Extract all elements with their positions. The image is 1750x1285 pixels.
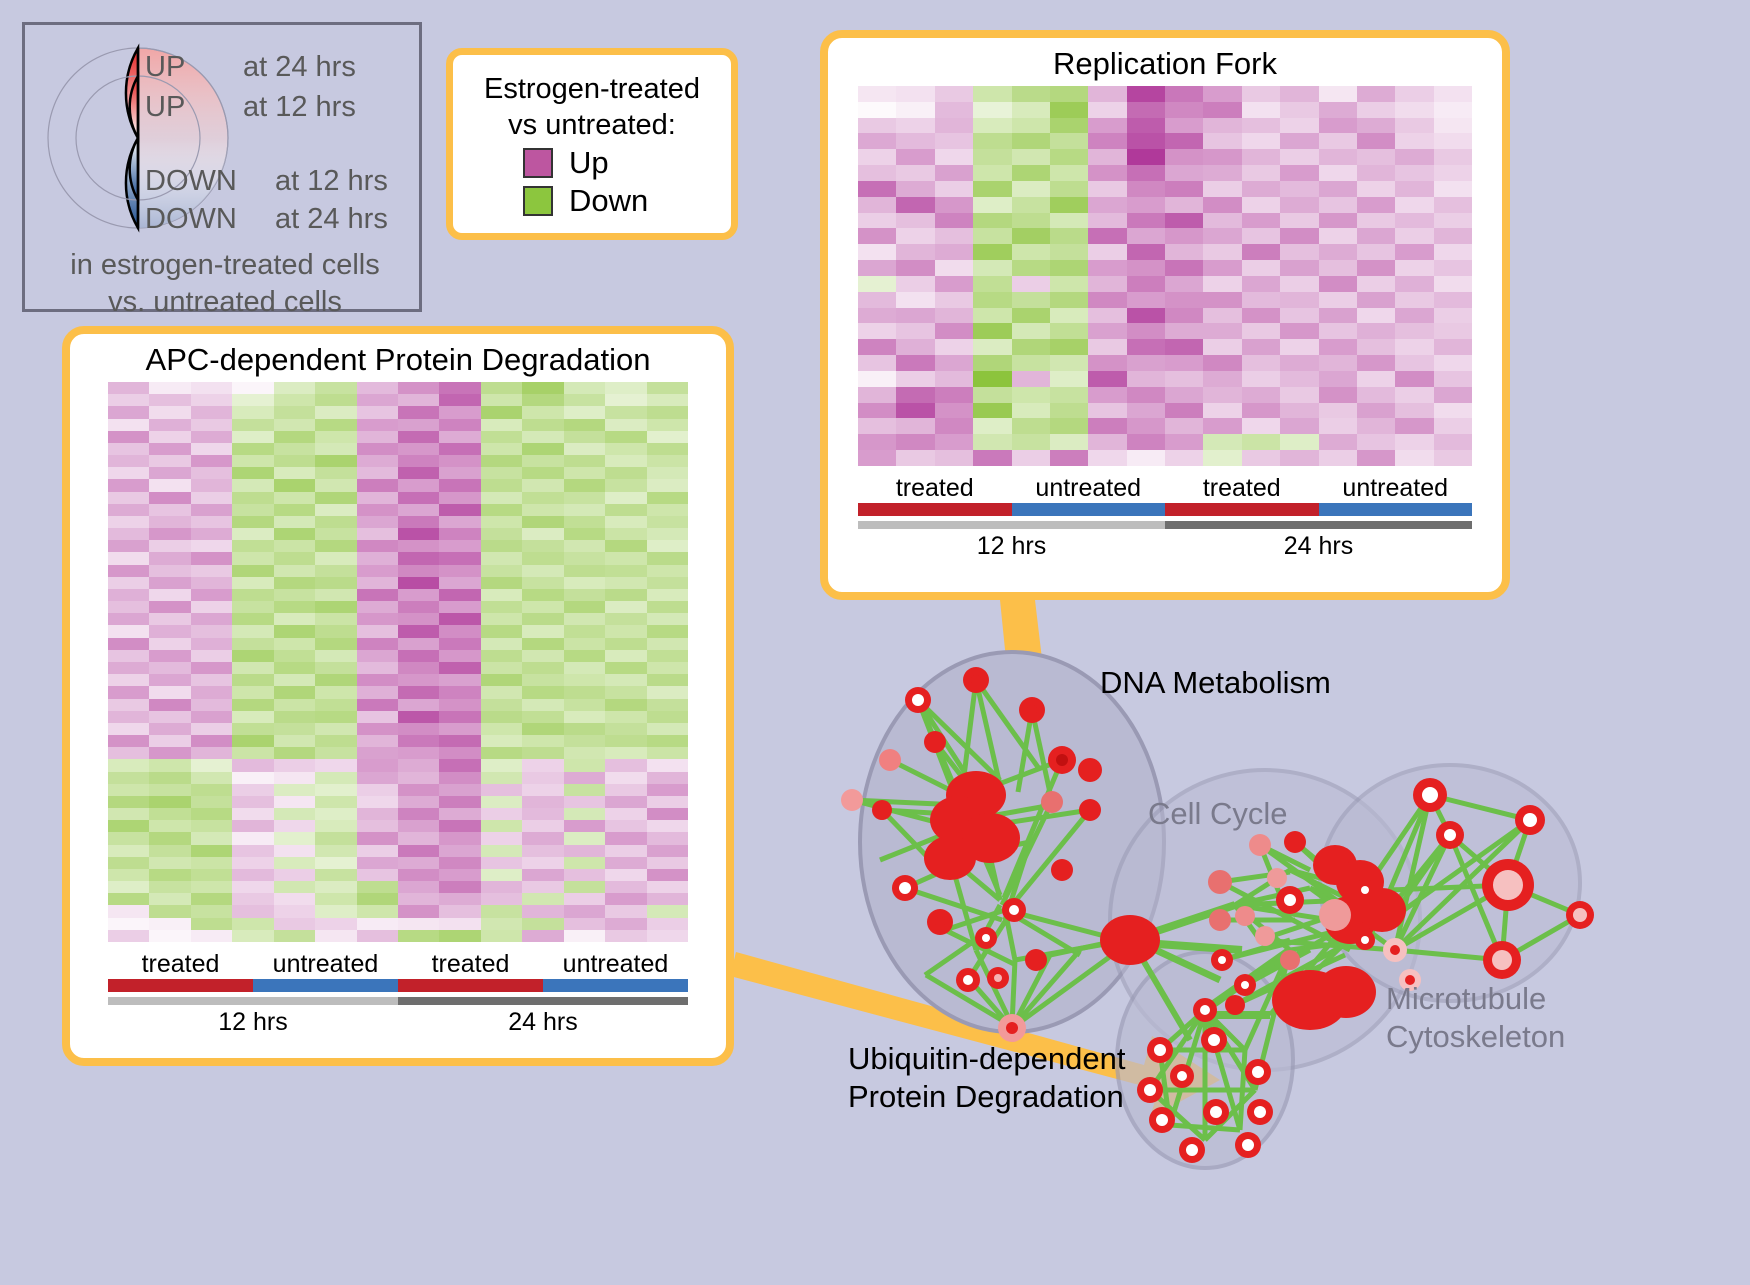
heatmap-cell bbox=[896, 387, 934, 403]
heatmap-cell bbox=[439, 406, 480, 418]
heatmap-cell bbox=[357, 686, 398, 698]
heatmap-cell bbox=[1050, 308, 1088, 324]
legend-item-down: Down bbox=[523, 183, 717, 219]
heatmap-cell bbox=[1050, 133, 1088, 149]
heatmap-cell bbox=[1127, 308, 1165, 324]
heatmap-cell bbox=[522, 406, 563, 418]
heatmap-cell bbox=[605, 784, 646, 796]
heatmap-cell bbox=[564, 467, 605, 479]
group-label: treated bbox=[108, 950, 253, 979]
heatmap-cell bbox=[274, 905, 315, 917]
heatmap-cell bbox=[935, 371, 973, 387]
heatmap-cell bbox=[191, 565, 232, 577]
heatmap-cell bbox=[522, 881, 563, 893]
heatmap-cell bbox=[108, 443, 149, 455]
heatmap-cell bbox=[1088, 276, 1126, 292]
heatmap-cell bbox=[605, 479, 646, 491]
heatmap-cell bbox=[108, 662, 149, 674]
heatmap-cell bbox=[1203, 339, 1241, 355]
heatmap-cell bbox=[1357, 434, 1395, 450]
heatmap-cell bbox=[1012, 244, 1050, 260]
heatmap-cell bbox=[439, 382, 480, 394]
heatmap-cell bbox=[1280, 244, 1318, 260]
heatmap-cell bbox=[1242, 292, 1280, 308]
heatmap-cell bbox=[1242, 228, 1280, 244]
heatmap-cell bbox=[1395, 450, 1433, 466]
heatmap-cell bbox=[605, 699, 646, 711]
heatmap-cell bbox=[357, 759, 398, 771]
heatmap-cell bbox=[896, 165, 934, 181]
heatmap-cell bbox=[1165, 228, 1203, 244]
heatmap-cell bbox=[191, 540, 232, 552]
heatmap-cell bbox=[357, 735, 398, 747]
heatmap-cell bbox=[481, 820, 522, 832]
heatmap-cell bbox=[1242, 276, 1280, 292]
heatmap-cell bbox=[191, 419, 232, 431]
heatmap-cell bbox=[1395, 418, 1433, 434]
heatmap-cell bbox=[274, 784, 315, 796]
heatmap-cell bbox=[1127, 213, 1165, 229]
heatmap-cell bbox=[522, 565, 563, 577]
heatmap-cell bbox=[108, 796, 149, 808]
heatmap-cell bbox=[398, 406, 439, 418]
heatmap-cell bbox=[481, 905, 522, 917]
heatmap-cell bbox=[191, 845, 232, 857]
heatmap-cell bbox=[564, 735, 605, 747]
heatmap-cell bbox=[1203, 244, 1241, 260]
heatmap-cell bbox=[315, 674, 356, 686]
heatmap-cell bbox=[564, 784, 605, 796]
heatmap-cell bbox=[1280, 133, 1318, 149]
heatmap-cell bbox=[108, 638, 149, 650]
heatmap-cell bbox=[315, 881, 356, 893]
heatmap-cell bbox=[605, 918, 646, 930]
heatmap-cell bbox=[398, 455, 439, 467]
heatmap-cell bbox=[398, 613, 439, 625]
heatmap-cell bbox=[315, 479, 356, 491]
heatmap-cell bbox=[973, 118, 1011, 134]
heatmap-cell bbox=[1319, 102, 1357, 118]
heatmap-cell bbox=[191, 735, 232, 747]
heatmap-cell bbox=[1088, 387, 1126, 403]
heatmap-cell bbox=[1434, 86, 1472, 102]
heatmap-cell bbox=[522, 918, 563, 930]
heatmap-cell bbox=[149, 638, 190, 650]
heatmap-cell bbox=[357, 516, 398, 528]
heatmap-cell bbox=[149, 431, 190, 443]
heatmap-cell bbox=[647, 881, 688, 893]
heatmap-cell bbox=[398, 577, 439, 589]
heatmap-cell bbox=[1357, 260, 1395, 276]
heatmap-cell bbox=[1319, 339, 1357, 355]
time-segment bbox=[398, 997, 688, 1005]
heatmap-cell bbox=[232, 930, 273, 942]
heatmap-cell bbox=[357, 845, 398, 857]
heatmap-cell bbox=[522, 552, 563, 564]
group-label: untreated bbox=[1012, 474, 1166, 503]
heatmap-cell bbox=[108, 528, 149, 540]
heatmap-cell bbox=[108, 625, 149, 637]
heatmap-cell bbox=[973, 260, 1011, 276]
heatmap-cell bbox=[439, 735, 480, 747]
heatmap-cell bbox=[1242, 86, 1280, 102]
heatmap-cell bbox=[481, 467, 522, 479]
heatmap-cell bbox=[191, 625, 232, 637]
heatmap-cell bbox=[522, 930, 563, 942]
heatmap-cell bbox=[1203, 86, 1241, 102]
heatmap-cell bbox=[274, 565, 315, 577]
heatmap-cell bbox=[315, 808, 356, 820]
heatmap-cell bbox=[564, 832, 605, 844]
heatmap-cell bbox=[1165, 418, 1203, 434]
heatmap-cell bbox=[232, 577, 273, 589]
time-label: 12 hrs bbox=[858, 532, 1165, 561]
heatmap-cell bbox=[1357, 387, 1395, 403]
heatmap-cell bbox=[108, 419, 149, 431]
heatmap-cell bbox=[1165, 276, 1203, 292]
heatmap-cell bbox=[149, 650, 190, 662]
treatment-segment bbox=[253, 979, 398, 992]
heatmap-cell bbox=[1395, 213, 1433, 229]
heatmap-cell bbox=[232, 881, 273, 893]
heatmap-cell bbox=[1242, 197, 1280, 213]
heatmap-cell bbox=[935, 276, 973, 292]
heatmap-cell bbox=[398, 638, 439, 650]
heatmap-cell bbox=[108, 820, 149, 832]
heatmap-cell bbox=[315, 832, 356, 844]
heatmap-cell bbox=[191, 808, 232, 820]
heatmap-cell bbox=[274, 869, 315, 881]
heatmap-cell bbox=[232, 613, 273, 625]
heatmap-cell bbox=[398, 492, 439, 504]
heatmap-cell bbox=[357, 552, 398, 564]
heatmap-cell bbox=[191, 723, 232, 735]
heatmap-cell bbox=[647, 601, 688, 613]
heatmap-cell bbox=[108, 881, 149, 893]
heatmap-cell bbox=[647, 784, 688, 796]
heatmap-cell bbox=[605, 869, 646, 881]
heatmap-cell bbox=[481, 747, 522, 759]
heatmap-cell bbox=[149, 625, 190, 637]
heatmap-cell bbox=[1395, 434, 1433, 450]
heatmap-cell bbox=[398, 905, 439, 917]
heatmap-cell bbox=[1127, 197, 1165, 213]
heatmap-cell bbox=[108, 784, 149, 796]
heatmap-cell bbox=[315, 772, 356, 784]
heatmap-cell bbox=[439, 528, 480, 540]
heatmap-cell bbox=[1357, 133, 1395, 149]
heatmap-cell bbox=[973, 86, 1011, 102]
heatmap-cell bbox=[232, 845, 273, 857]
heatmap-cell bbox=[1012, 418, 1050, 434]
heatmap-cell bbox=[481, 504, 522, 516]
heatmap-cell bbox=[108, 686, 149, 698]
heatmap-cell bbox=[191, 467, 232, 479]
heatmap-cell bbox=[647, 832, 688, 844]
heatmap-cell bbox=[232, 443, 273, 455]
heatmap-cell bbox=[1012, 371, 1050, 387]
heatmap-cell bbox=[108, 394, 149, 406]
heatmap-cell bbox=[439, 930, 480, 942]
heatmap-cell bbox=[1127, 181, 1165, 197]
heatmap-cell bbox=[1012, 308, 1050, 324]
heatmap-cell bbox=[935, 323, 973, 339]
heatmap-cell bbox=[1165, 149, 1203, 165]
heatmap-cell bbox=[357, 881, 398, 893]
heatmap-cell bbox=[149, 662, 190, 674]
heatmap-cell bbox=[858, 450, 896, 466]
treatment-segment bbox=[543, 979, 688, 992]
heatmap-cell bbox=[149, 443, 190, 455]
heatmap-cell bbox=[973, 403, 1011, 419]
heatmap-cell bbox=[191, 406, 232, 418]
heatmap-cell bbox=[149, 869, 190, 881]
heatmap-cell bbox=[191, 662, 232, 674]
heatmap-cell bbox=[232, 528, 273, 540]
heatmap-cell bbox=[357, 455, 398, 467]
heatmap-cell bbox=[439, 479, 480, 491]
heatmap-cell bbox=[647, 723, 688, 735]
heatmap-cell bbox=[315, 504, 356, 516]
heatmap-cell bbox=[191, 528, 232, 540]
time-label: 24 hrs bbox=[398, 1008, 688, 1037]
heatmap-cell bbox=[1203, 228, 1241, 244]
heatmap-cell bbox=[564, 394, 605, 406]
heatmap-cell bbox=[1012, 339, 1050, 355]
heatmap-cell bbox=[398, 674, 439, 686]
heatmap-cell bbox=[1050, 355, 1088, 371]
group-label: untreated bbox=[543, 950, 688, 979]
heatmap-cell bbox=[1203, 133, 1241, 149]
heatmap-cell bbox=[191, 443, 232, 455]
heatmap-cell bbox=[1127, 244, 1165, 260]
heatmap-cell bbox=[315, 467, 356, 479]
heatmap-cell bbox=[1050, 197, 1088, 213]
heatmap-cell bbox=[858, 244, 896, 260]
heatmap-cell bbox=[1319, 403, 1357, 419]
heatmap-cell bbox=[973, 244, 1011, 260]
heatmap-cell bbox=[1395, 197, 1433, 213]
heatmap-cell bbox=[1357, 197, 1395, 213]
time-labels-replication-fork: 12 hrs24 hrs bbox=[858, 532, 1472, 561]
heatmap-cell bbox=[1088, 244, 1126, 260]
updown-legend-box: Estrogen-treated vs untreated: Up Down bbox=[446, 48, 738, 240]
heatmap-cell bbox=[439, 723, 480, 735]
heatmap-cell bbox=[1395, 308, 1433, 324]
heatmap-cell bbox=[274, 796, 315, 808]
heatmap-cell bbox=[564, 723, 605, 735]
heatmap-cell bbox=[1165, 403, 1203, 419]
heatmap-cell bbox=[564, 577, 605, 589]
heatmap-cell bbox=[149, 930, 190, 942]
heatmap-cell bbox=[481, 686, 522, 698]
heatmap-cell bbox=[1357, 371, 1395, 387]
heatmap-cell bbox=[481, 394, 522, 406]
heatmap-cell bbox=[1242, 403, 1280, 419]
heatmap-cell bbox=[1050, 244, 1088, 260]
heatmap-cell bbox=[896, 339, 934, 355]
heatmap-cell bbox=[1395, 387, 1433, 403]
heatmap-cell bbox=[896, 149, 934, 165]
heatmap-cell bbox=[1012, 403, 1050, 419]
heatmap-cell bbox=[564, 479, 605, 491]
heatmap-cell bbox=[522, 723, 563, 735]
heatmap-cell bbox=[605, 674, 646, 686]
heatmap-cell bbox=[1357, 450, 1395, 466]
heatmap-cell bbox=[191, 394, 232, 406]
heatmap-cell bbox=[1242, 213, 1280, 229]
heatmap-cell bbox=[1203, 355, 1241, 371]
heatmap-cell bbox=[605, 650, 646, 662]
heatmap-cell bbox=[1319, 244, 1357, 260]
heatmap-cell bbox=[1165, 434, 1203, 450]
heatmap-cell bbox=[274, 540, 315, 552]
heatmap-cell bbox=[564, 419, 605, 431]
heatmap-cell bbox=[481, 869, 522, 881]
heatmap-cell bbox=[149, 674, 190, 686]
heatmap-cell bbox=[357, 857, 398, 869]
heatmap-cell bbox=[108, 613, 149, 625]
heatmap-cell bbox=[357, 772, 398, 784]
heatmap-cell bbox=[1280, 387, 1318, 403]
heatmap-cell bbox=[896, 323, 934, 339]
heatmap-cell bbox=[1434, 323, 1472, 339]
heatmap-cell bbox=[647, 857, 688, 869]
heatmap-cell bbox=[232, 601, 273, 613]
heatmap-cell bbox=[315, 638, 356, 650]
heatmap-cell bbox=[858, 308, 896, 324]
heatmap-cell bbox=[439, 857, 480, 869]
heatmap-cell bbox=[935, 133, 973, 149]
heatmap-cell bbox=[973, 450, 1011, 466]
heatmap-cell bbox=[357, 479, 398, 491]
heatmap-cell bbox=[439, 504, 480, 516]
heatmap-cell bbox=[357, 431, 398, 443]
heatmap-cell bbox=[274, 845, 315, 857]
heatmap-cell bbox=[1165, 387, 1203, 403]
heatmap-cell bbox=[522, 443, 563, 455]
heatmap-cell bbox=[564, 589, 605, 601]
heatmap-cell bbox=[439, 881, 480, 893]
heatmap-cell bbox=[522, 857, 563, 869]
heatmap-cell bbox=[1280, 371, 1318, 387]
heatmap-cell bbox=[232, 479, 273, 491]
key-up-12-time: at 12 hrs bbox=[243, 91, 356, 124]
heatmap-cell bbox=[315, 565, 356, 577]
heatmap-cell bbox=[564, 772, 605, 784]
heatmap-cell bbox=[1165, 292, 1203, 308]
heatmap-cell bbox=[1280, 339, 1318, 355]
heatmap-cell bbox=[605, 881, 646, 893]
heatmap-cell bbox=[398, 540, 439, 552]
heatmap-cell bbox=[149, 577, 190, 589]
heatmap-cell bbox=[896, 260, 934, 276]
heatmap-cell bbox=[1012, 149, 1050, 165]
time-label: 12 hrs bbox=[108, 1008, 398, 1037]
heatmap-cell bbox=[149, 918, 190, 930]
heatmap-cell bbox=[481, 723, 522, 735]
heatmap-cell bbox=[858, 228, 896, 244]
heatmap-cell bbox=[1434, 165, 1472, 181]
key-up-12-label: UP bbox=[145, 91, 185, 124]
heatmap-cell bbox=[1357, 86, 1395, 102]
heatmap-cell bbox=[149, 784, 190, 796]
heatmap-cell bbox=[481, 784, 522, 796]
heatmap-cell bbox=[149, 735, 190, 747]
group-labels-replication-fork: treateduntreatedtreateduntreated bbox=[858, 474, 1472, 503]
heatmap-cell bbox=[232, 723, 273, 735]
heatmap-cell bbox=[357, 406, 398, 418]
heatmap-cell bbox=[647, 431, 688, 443]
heatmap-cell bbox=[1319, 197, 1357, 213]
heatmap-cell bbox=[439, 918, 480, 930]
heatmap-cell bbox=[605, 808, 646, 820]
heatmap-cell bbox=[315, 382, 356, 394]
heatmap-cell bbox=[481, 479, 522, 491]
heatmap-cell bbox=[108, 674, 149, 686]
heatmap-cell bbox=[232, 784, 273, 796]
heatmap-cell bbox=[1242, 260, 1280, 276]
heatmap-cell bbox=[1280, 292, 1318, 308]
heatmap-cell bbox=[1280, 165, 1318, 181]
heatmap-cell bbox=[439, 601, 480, 613]
heatmap-cell bbox=[1242, 133, 1280, 149]
heatmap-cell bbox=[522, 419, 563, 431]
heatmap-cell bbox=[108, 406, 149, 418]
heatmap-cell bbox=[398, 625, 439, 637]
heatmap-cell bbox=[481, 930, 522, 942]
heatmap-cell bbox=[896, 213, 934, 229]
heatmap-cell bbox=[439, 784, 480, 796]
time-labels-apc: 12 hrs24 hrs bbox=[108, 1008, 688, 1037]
heatmap-cell bbox=[522, 747, 563, 759]
heatmap-cell bbox=[1434, 260, 1472, 276]
heatmap-cell bbox=[973, 387, 1011, 403]
heatmap-cell bbox=[896, 102, 934, 118]
heatmap-cell bbox=[398, 382, 439, 394]
heatmap-cell bbox=[149, 759, 190, 771]
heatmap-cell bbox=[149, 492, 190, 504]
heatmap-cell bbox=[647, 504, 688, 516]
heatmap-cell bbox=[1357, 323, 1395, 339]
heatmap-cell bbox=[1395, 165, 1433, 181]
heatmap-cell bbox=[398, 857, 439, 869]
heatmap-cell bbox=[647, 662, 688, 674]
heatmap-cell bbox=[1165, 165, 1203, 181]
heatmap-cell bbox=[1088, 292, 1126, 308]
heatmap-cell bbox=[647, 638, 688, 650]
heatmap-cell bbox=[973, 228, 1011, 244]
heatmap-cell bbox=[605, 930, 646, 942]
heatmap-cell bbox=[935, 197, 973, 213]
heatmap-cell bbox=[564, 431, 605, 443]
heatmap-cell bbox=[564, 552, 605, 564]
heatmap-cell bbox=[896, 292, 934, 308]
heatmap-cell bbox=[1012, 181, 1050, 197]
heatmap-cell bbox=[1280, 213, 1318, 229]
heatmap-cell bbox=[564, 516, 605, 528]
heatmap-cell bbox=[935, 149, 973, 165]
heatmap-cell bbox=[522, 869, 563, 881]
updown-legend-header-line2: vs untreated: bbox=[467, 107, 717, 143]
heatmap-cell bbox=[896, 197, 934, 213]
heatmap-cell bbox=[108, 431, 149, 443]
heatmap-apc bbox=[108, 382, 688, 942]
heatmap-cell bbox=[1203, 181, 1241, 197]
heatmap-cell bbox=[605, 772, 646, 784]
heatmap-cell bbox=[149, 747, 190, 759]
heatmap-cell bbox=[1088, 165, 1126, 181]
